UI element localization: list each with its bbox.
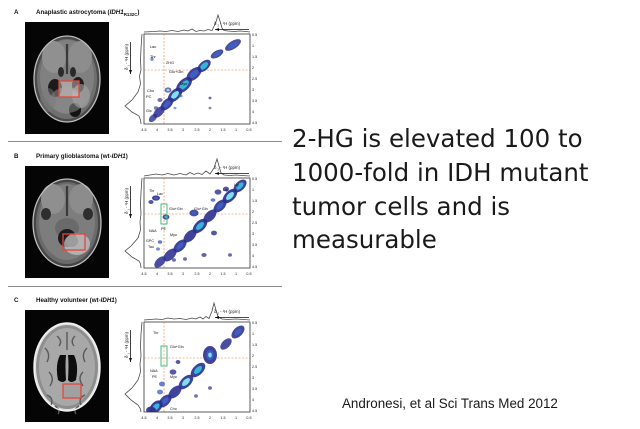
svg-text:2.5: 2.5 — [194, 272, 199, 276]
svg-text:Myo: Myo — [180, 81, 187, 86]
panel-letter-c: C — [14, 297, 18, 304]
svg-text:NAA: NAA — [150, 369, 158, 373]
svg-text:4.5: 4.5 — [141, 272, 146, 276]
svg-text:1.5: 1.5 — [252, 199, 257, 203]
svg-text:4: 4 — [252, 398, 254, 402]
svg-text:2: 2 — [209, 416, 211, 420]
svg-text:PC: PC — [146, 94, 152, 99]
panel-letter-a: A — [14, 9, 18, 16]
panel-letter-b: B — [14, 153, 18, 160]
svg-text:3.5: 3.5 — [167, 416, 172, 420]
svg-text:4: 4 — [156, 272, 158, 276]
svg-text:3: 3 — [182, 272, 184, 276]
svg-text:3: 3 — [252, 88, 254, 92]
svg-text:0.5: 0.5 — [246, 416, 251, 420]
svg-text:1: 1 — [252, 188, 254, 192]
svg-text:Cho: Cho — [170, 407, 177, 411]
svg-text:3: 3 — [252, 376, 254, 380]
svg-text:2.5: 2.5 — [252, 365, 257, 369]
svg-text:4.5: 4.5 — [141, 416, 146, 420]
svg-text:0.5: 0.5 — [252, 33, 257, 37]
panel-title-b: Primary glioblastoma (wt-IDH1) — [36, 153, 128, 160]
figure-panel-c: C Healthy volunteer (wt-IDH1) — [0, 292, 300, 429]
svg-text:Glu+Gln: Glu+Gln — [169, 69, 183, 74]
svg-text:2.5: 2.5 — [194, 128, 199, 132]
svg-text:3.5: 3.5 — [252, 99, 257, 103]
mri-image-a — [25, 22, 109, 134]
svg-text:0.5: 0.5 — [246, 128, 251, 132]
svg-text:1.5: 1.5 — [220, 416, 225, 420]
svg-text:4.5: 4.5 — [141, 128, 146, 132]
svg-text:1: 1 — [252, 44, 254, 48]
svg-text:3: 3 — [252, 232, 254, 236]
figure-panel-b: B Primary glioblastoma (wt-IDH1) — [0, 148, 300, 285]
svg-text:4: 4 — [252, 254, 254, 258]
mri-image-b — [25, 166, 109, 278]
svg-text:- ¹H (ppm): - ¹H (ppm) — [124, 331, 129, 352]
svg-text:4: 4 — [156, 128, 158, 132]
svg-text:2HG: 2HG — [166, 60, 174, 65]
svg-text:GPC: GPC — [146, 239, 154, 243]
svg-text:- ¹H (ppm): - ¹H (ppm) — [124, 43, 129, 64]
svg-text:4.5: 4.5 — [252, 265, 257, 269]
svg-text:3: 3 — [182, 128, 184, 132]
svg-text:NAA: NAA — [149, 229, 157, 233]
svg-text:Myo: Myo — [170, 233, 177, 237]
slide-citation: Andronesi, et al Sci Trans Med 2012 — [342, 396, 632, 411]
svg-text:2: 2 — [252, 354, 254, 358]
svg-text:1: 1 — [235, 272, 237, 276]
svg-text:1.5: 1.5 — [220, 128, 225, 132]
svg-text:2.5: 2.5 — [252, 77, 257, 81]
svg-text:- ¹H (ppm): - ¹H (ppm) — [220, 309, 241, 314]
svg-text:Glu+Gln: Glu+Gln — [194, 207, 208, 211]
svg-text:PE: PE — [161, 227, 166, 231]
svg-text:4.5: 4.5 — [252, 121, 257, 125]
svg-text:- ¹H (ppm): - ¹H (ppm) — [124, 187, 129, 208]
panel-divider-2 — [8, 286, 282, 287]
svg-text:Thr: Thr — [149, 189, 155, 193]
svg-text:1: 1 — [252, 332, 254, 336]
svg-text:3.5: 3.5 — [252, 243, 257, 247]
svg-text:Glc: Glc — [146, 108, 152, 113]
svg-text:2: 2 — [209, 128, 211, 132]
svg-text:0.5: 0.5 — [252, 321, 257, 325]
svg-text:2: 2 — [252, 210, 254, 214]
svg-text:Lac: Lac — [157, 192, 163, 196]
svg-text:Lac: Lac — [150, 44, 156, 49]
panel-divider-1 — [8, 141, 282, 142]
svg-text:Thr: Thr — [153, 331, 159, 335]
svg-text:PE: PE — [152, 375, 157, 379]
svg-text:Lip: Lip — [234, 183, 239, 187]
svg-text:1.5: 1.5 — [220, 272, 225, 276]
slide-canvas: A Anaplastic astrocytoma (IDH1R132C) — [0, 0, 640, 428]
panel-title-c: Healthy volunteer (wt-IDH1) — [36, 297, 117, 304]
svg-text:Cho: Cho — [147, 88, 154, 93]
svg-text:- ¹H (ppm): - ¹H (ppm) — [220, 165, 241, 170]
svg-text:4.5: 4.5 — [252, 409, 257, 413]
svg-text:Myo: Myo — [170, 375, 177, 379]
svg-text:2.5: 2.5 — [194, 416, 199, 420]
svg-text:3.5: 3.5 — [252, 387, 257, 391]
spectrum-chart-b: δ 2 - ¹H (ppm) δ 1 - ¹H (ppm) — [118, 156, 264, 284]
svg-text:Thr: Thr — [150, 54, 157, 59]
svg-text:3.5: 3.5 — [167, 272, 172, 276]
svg-text:1: 1 — [235, 128, 237, 132]
svg-text:2.5: 2.5 — [252, 221, 257, 225]
svg-text:1.5: 1.5 — [252, 343, 257, 347]
svg-text:0.5: 0.5 — [246, 272, 251, 276]
svg-text:3: 3 — [182, 416, 184, 420]
svg-text:2: 2 — [252, 66, 254, 70]
svg-text:1.5: 1.5 — [252, 55, 257, 59]
svg-text:Tau: Tau — [148, 245, 154, 249]
svg-text:4: 4 — [252, 110, 254, 114]
figure-panel-group: A Anaplastic astrocytoma (IDH1R132C) — [0, 0, 300, 428]
slide-body-text: 2-HG is elevated 100 to 1000-fold in IDH… — [292, 122, 622, 257]
svg-text:4: 4 — [156, 416, 158, 420]
spectrum-chart-c: δ 2 - ¹H (ppm) δ 1 - ¹H (ppm) — [118, 300, 264, 428]
svg-text:Glu+Gln: Glu+Gln — [169, 207, 183, 211]
svg-text:Lip: Lip — [223, 188, 228, 192]
svg-text:Glu+Gln: Glu+Gln — [170, 345, 184, 349]
svg-text:- ¹H (ppm): - ¹H (ppm) — [220, 21, 241, 26]
svg-text:3.5: 3.5 — [167, 128, 172, 132]
mri-image-c — [25, 310, 109, 422]
svg-text:2: 2 — [209, 272, 211, 276]
figure-panel-a: A Anaplastic astrocytoma (IDH1R132C) — [0, 4, 300, 141]
svg-text:1: 1 — [235, 416, 237, 420]
svg-text:0.5: 0.5 — [252, 177, 257, 181]
spectrum-chart-a: δ 2 - ¹H (ppm) δ 1 - ¹H (ppm) — [118, 12, 264, 140]
